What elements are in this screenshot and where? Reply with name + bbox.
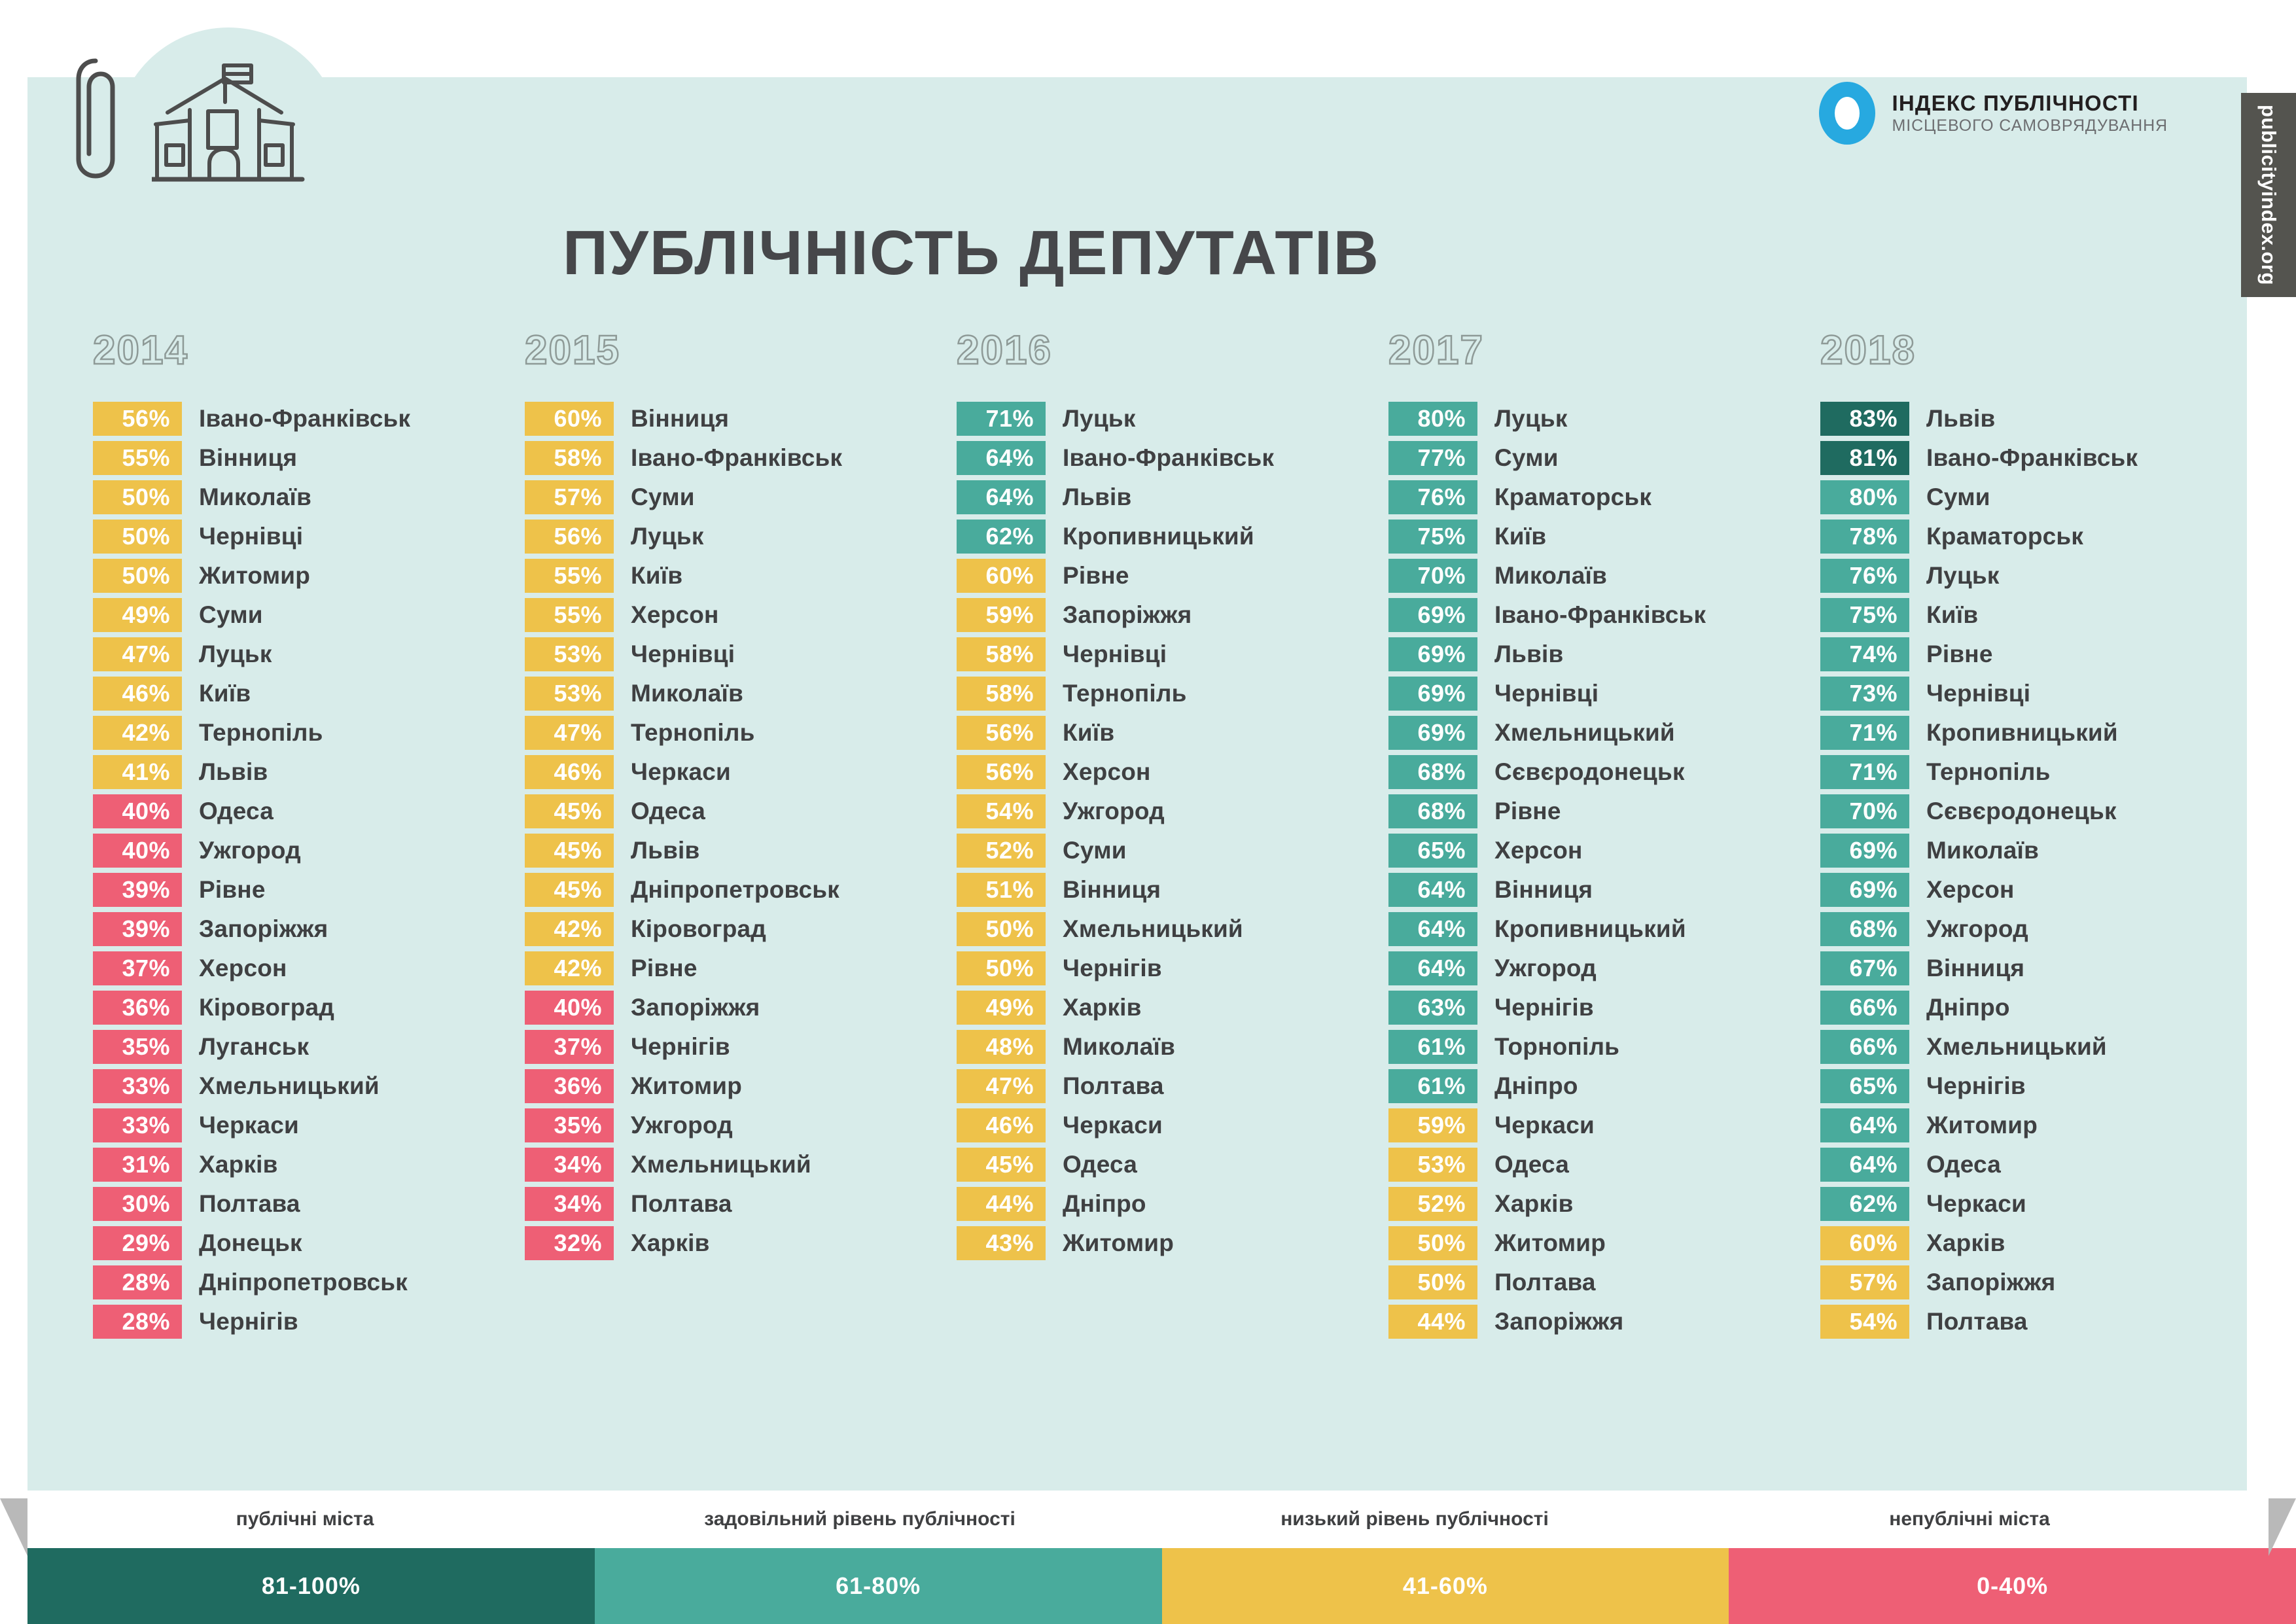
city-row: 53%Миколаїв: [525, 677, 957, 711]
city-name: Суми: [1909, 484, 1990, 511]
city-name: Запоріжжя: [1909, 1269, 2055, 1296]
city-name: Миколаїв: [614, 680, 743, 707]
city-row: 70%Миколаїв: [1388, 559, 1820, 593]
city-row: 45%Львів: [525, 834, 957, 868]
city-name: Чернігів: [182, 1308, 298, 1335]
city-name: Кропивницький: [1046, 523, 1254, 550]
city-row: 37%Чернігів: [525, 1030, 957, 1064]
city-row: 50%Миколаїв: [93, 480, 525, 514]
percent-badge: 51%: [957, 873, 1046, 907]
city-row: 78%Краматорськ: [1820, 520, 2252, 554]
city-name: Херсон: [182, 955, 287, 982]
city-name: Луцьк: [182, 641, 272, 668]
city-row: 62%Черкаси: [1820, 1187, 2252, 1221]
percent-badge: 46%: [525, 755, 614, 789]
city-name: Кропивницький: [1477, 915, 1686, 943]
percent-badge: 49%: [93, 598, 182, 632]
city-row: 31%Харків: [93, 1148, 525, 1182]
city-row: 44%Запоріжжя: [1388, 1305, 1820, 1339]
percent-badge: 67%: [1820, 951, 1909, 985]
legend-bars: 81-100%61-80%41-60%0-40%: [27, 1548, 2296, 1624]
city-name: Херсон: [614, 601, 719, 629]
city-name: Вінниця: [1046, 876, 1161, 904]
city-row: 46%Київ: [93, 677, 525, 711]
city-row: 42%Кіровоград: [525, 912, 957, 946]
city-name: Львів: [1909, 405, 1995, 432]
city-name: Черкаси: [1046, 1112, 1163, 1139]
city-name: Одеса: [1046, 1151, 1137, 1178]
city-name: Суми: [182, 601, 263, 629]
city-row: 36%Кіровоград: [93, 991, 525, 1025]
percent-badge: 50%: [93, 520, 182, 554]
city-row: 65%Чернігів: [1820, 1069, 2252, 1103]
city-name: Миколаїв: [1909, 837, 2039, 864]
percent-badge: 68%: [1820, 912, 1909, 946]
city-name: Херсон: [1909, 876, 2015, 904]
year-column-2014: 201456%Івано-Франківськ55%Вінниця50%Мико…: [93, 327, 525, 1339]
city-row: 81%Івано-Франківськ: [1820, 441, 2252, 475]
city-name: Черкаси: [614, 758, 731, 786]
year-column-2016: 201671%Луцьк64%Івано-Франківськ64%Львів6…: [957, 327, 1388, 1339]
city-row: 28%Чернігів: [93, 1305, 525, 1339]
legend-range-public: 81-100%: [27, 1548, 595, 1624]
city-rows: 71%Луцьк64%Івано-Франківськ64%Львів62%Кр…: [957, 402, 1388, 1260]
city-name: Луганськ: [182, 1033, 309, 1061]
city-name: Тернопіль: [1046, 680, 1187, 707]
percent-badge: 64%: [1388, 912, 1477, 946]
city-row: 50%Житомир: [93, 559, 525, 593]
city-name: Івано-Франківськ: [614, 444, 842, 472]
city-name: Рівне: [1909, 641, 1993, 668]
city-row: 36%Житомир: [525, 1069, 957, 1103]
city-name: Дніпропетровськ: [614, 876, 839, 904]
percent-badge: 81%: [1820, 441, 1909, 475]
percent-badge: 49%: [957, 991, 1046, 1025]
city-row: 69%Миколаїв: [1820, 834, 2252, 868]
logo-title: ІНДЕКС ПУБЛІЧНОСТІ: [1892, 91, 2168, 116]
percent-badge: 69%: [1388, 637, 1477, 671]
city-name: Полтава: [614, 1190, 732, 1218]
city-row: 61%Торнопіль: [1388, 1030, 1820, 1064]
city-rows: 60%Вінниця58%Івано-Франківськ57%Суми56%Л…: [525, 402, 957, 1260]
brand-logo: ІНДЕКС ПУБЛІЧНОСТІ МІСЦЕВОГО САМОВРЯДУВА…: [1819, 82, 2168, 145]
city-name: Херсон: [1477, 837, 1583, 864]
city-row: 69%Івано-Франківськ: [1388, 598, 1820, 632]
city-row: 40%Запоріжжя: [525, 991, 957, 1025]
percent-badge: 47%: [525, 716, 614, 750]
city-row: 46%Черкаси: [525, 755, 957, 789]
percent-badge: 33%: [93, 1069, 182, 1103]
school-building-icon: [152, 62, 308, 220]
city-row: 58%Івано-Франківськ: [525, 441, 957, 475]
city-name: Івано-Франківськ: [182, 405, 410, 432]
logo-ring-icon: [1819, 82, 1875, 145]
city-name: Миколаїв: [1046, 1033, 1175, 1061]
legend-captions: публічні містазадовільний рівень публічн…: [27, 1491, 2247, 1548]
city-name: Одеса: [614, 798, 705, 825]
city-row: 30%Полтава: [93, 1187, 525, 1221]
percent-badge: 42%: [525, 912, 614, 946]
percent-badge: 74%: [1820, 637, 1909, 671]
city-row: 65%Херсон: [1388, 834, 1820, 868]
percent-badge: 35%: [93, 1030, 182, 1064]
percent-badge: 45%: [957, 1148, 1046, 1182]
percent-badge: 63%: [1388, 991, 1477, 1025]
city-row: 56%Івано-Франківськ: [93, 402, 525, 436]
year-column-2015: 201560%Вінниця58%Івано-Франківськ57%Суми…: [525, 327, 957, 1339]
city-name: Харків: [1477, 1190, 1574, 1218]
city-name: Рівне: [1046, 562, 1129, 590]
city-row: 64%Кропивницький: [1388, 912, 1820, 946]
percent-badge: 76%: [1388, 480, 1477, 514]
city-row: 71%Луцьк: [957, 402, 1388, 436]
city-name: Тернопіль: [614, 719, 755, 747]
city-name: Рівне: [182, 876, 266, 904]
city-row: 50%Хмельницький: [957, 912, 1388, 946]
city-name: Дніпро: [1909, 994, 2010, 1021]
city-name: Київ: [182, 680, 251, 707]
percent-badge: 60%: [525, 402, 614, 436]
percent-badge: 78%: [1820, 520, 1909, 554]
city-row: 39%Рівне: [93, 873, 525, 907]
percent-badge: 64%: [1820, 1108, 1909, 1142]
city-name: Запоріжжя: [1477, 1308, 1623, 1335]
percent-badge: 68%: [1388, 794, 1477, 828]
city-row: 28%Дніпропетровськ: [93, 1265, 525, 1299]
percent-badge: 58%: [525, 441, 614, 475]
city-row: 64%Житомир: [1820, 1108, 2252, 1142]
city-name: Хмельницький: [1909, 1033, 2107, 1061]
city-name: Вінниця: [1477, 876, 1593, 904]
percent-badge: 50%: [957, 951, 1046, 985]
legend-caption-good: задовільний рівень публічності: [582, 1491, 1137, 1548]
city-row: 68%Сєвєродонецьк: [1388, 755, 1820, 789]
percent-badge: 55%: [525, 598, 614, 632]
percent-badge: 34%: [525, 1187, 614, 1221]
city-name: Хмельницький: [614, 1151, 811, 1178]
website-ribbon[interactable]: publicityindex.org: [2241, 93, 2296, 297]
city-name: Херсон: [1046, 758, 1151, 786]
city-row: 69%Львів: [1388, 637, 1820, 671]
city-row: 68%Рівне: [1388, 794, 1820, 828]
city-name: Хмельницький: [182, 1072, 380, 1100]
percent-badge: 71%: [1820, 716, 1909, 750]
percent-badge: 36%: [525, 1069, 614, 1103]
percent-badge: 45%: [525, 834, 614, 868]
city-name: Миколаїв: [182, 484, 311, 511]
city-row: 54%Ужгород: [957, 794, 1388, 828]
city-row: 60%Вінниця: [525, 402, 957, 436]
year-column-2018: 201883%Львів81%Івано-Франківськ80%Суми78…: [1820, 327, 2252, 1339]
city-name: Чернівці: [614, 641, 735, 668]
city-row: 45%Дніпропетровськ: [525, 873, 957, 907]
percent-badge: 33%: [93, 1108, 182, 1142]
city-row: 59%Черкаси: [1388, 1108, 1820, 1142]
percent-badge: 69%: [1820, 873, 1909, 907]
percent-badge: 53%: [1388, 1148, 1477, 1182]
city-name: Луцьк: [1909, 562, 2000, 590]
city-name: Кропивницький: [1909, 719, 2118, 747]
percent-badge: 62%: [957, 520, 1046, 554]
city-row: 41%Львів: [93, 755, 525, 789]
percent-badge: 44%: [1388, 1305, 1477, 1339]
website-url: publicityindex.org: [2241, 93, 2296, 297]
city-row: 77%Суми: [1388, 441, 1820, 475]
city-row: 64%Івано-Франківськ: [957, 441, 1388, 475]
percent-badge: 59%: [1388, 1108, 1477, 1142]
city-row: 76%Краматорськ: [1388, 480, 1820, 514]
percent-badge: 69%: [1388, 598, 1477, 632]
city-row: 32%Харків: [525, 1226, 957, 1260]
fold-right-decoration: [2269, 1498, 2296, 1556]
percent-badge: 56%: [525, 520, 614, 554]
percent-badge: 54%: [957, 794, 1046, 828]
percent-badge: 83%: [1820, 402, 1909, 436]
school-building-badge: [115, 27, 342, 254]
city-row: 42%Тернопіль: [93, 716, 525, 750]
city-name: Чернігів: [1909, 1072, 2026, 1100]
percent-badge: 52%: [957, 834, 1046, 868]
percent-badge: 65%: [1820, 1069, 1909, 1103]
city-row: 63%Чернігів: [1388, 991, 1820, 1025]
city-row: 40%Ужгород: [93, 834, 525, 868]
year-label: 2016: [957, 327, 1388, 373]
city-name: Луцьк: [1477, 405, 1568, 432]
city-name: Рівне: [614, 955, 698, 982]
percent-badge: 61%: [1388, 1069, 1477, 1103]
percent-badge: 54%: [1820, 1305, 1909, 1339]
city-row: 80%Суми: [1820, 480, 2252, 514]
city-name: Львів: [182, 758, 268, 786]
year-columns: 201456%Івано-Франківськ55%Вінниця50%Мико…: [27, 327, 2247, 1339]
percent-badge: 53%: [525, 637, 614, 671]
percent-badge: 45%: [525, 873, 614, 907]
percent-badge: 58%: [957, 677, 1046, 711]
legend-caption-nonpublic: непублічні міста: [1692, 1491, 2247, 1548]
percent-badge: 46%: [93, 677, 182, 711]
city-name: Запоріжжя: [182, 915, 328, 943]
percent-badge: 58%: [957, 637, 1046, 671]
city-name: Кіровоград: [182, 994, 334, 1021]
city-row: 66%Хмельницький: [1820, 1030, 2252, 1064]
year-column-2017: 201780%Луцьк77%Суми76%Краматорськ75%Київ…: [1388, 327, 1820, 1339]
year-label: 2015: [525, 327, 957, 373]
city-row: 37%Херсон: [93, 951, 525, 985]
percent-badge: 50%: [93, 480, 182, 514]
city-row: 42%Рівне: [525, 951, 957, 985]
percent-badge: 37%: [93, 951, 182, 985]
city-name: Дніпро: [1046, 1190, 1146, 1218]
legend-range-low: 41-60%: [1162, 1548, 1729, 1624]
city-row: 53%Чернівці: [525, 637, 957, 671]
city-row: 80%Луцьк: [1388, 402, 1820, 436]
percent-badge: 47%: [957, 1069, 1046, 1103]
city-name: Київ: [614, 562, 682, 590]
percent-badge: 29%: [93, 1226, 182, 1260]
city-row: 60%Рівне: [957, 559, 1388, 593]
city-name: Луцьк: [1046, 405, 1136, 432]
fold-left-decoration: [0, 1498, 27, 1556]
city-row: 45%Одеса: [957, 1148, 1388, 1182]
percent-badge: 57%: [525, 480, 614, 514]
city-row: 69%Хмельницький: [1388, 716, 1820, 750]
percent-badge: 50%: [957, 912, 1046, 946]
city-row: 56%Київ: [957, 716, 1388, 750]
city-row: 57%Суми: [525, 480, 957, 514]
percent-badge: 37%: [525, 1030, 614, 1064]
percent-badge: 75%: [1820, 598, 1909, 632]
city-name: Тернопіль: [182, 719, 323, 747]
city-row: 45%Одеса: [525, 794, 957, 828]
percent-badge: 53%: [525, 677, 614, 711]
city-name: Ужгород: [1046, 798, 1165, 825]
percent-badge: 55%: [525, 559, 614, 593]
year-label: 2017: [1388, 327, 1820, 373]
city-row: 67%Вінниця: [1820, 951, 2252, 985]
city-rows: 56%Івано-Франківськ55%Вінниця50%Миколаїв…: [93, 402, 525, 1339]
city-name: Полтава: [1909, 1308, 2028, 1335]
logo-text: ІНДЕКС ПУБЛІЧНОСТІ МІСЦЕВОГО САМОВРЯДУВА…: [1892, 91, 2168, 135]
city-name: Харків: [1909, 1229, 2005, 1257]
percent-badge: 59%: [957, 598, 1046, 632]
city-name: Житомир: [1046, 1229, 1174, 1257]
city-row: 76%Луцьк: [1820, 559, 2252, 593]
percent-badge: 36%: [93, 991, 182, 1025]
city-name: Київ: [1909, 601, 1978, 629]
city-name: Івано-Франківськ: [1046, 444, 1274, 472]
city-rows: 83%Львів81%Івано-Франківськ80%Суми78%Кра…: [1820, 402, 2252, 1339]
city-name: Харків: [182, 1151, 278, 1178]
city-row: 70%Сєвєродонецьк: [1820, 794, 2252, 828]
city-name: Івано-Франківськ: [1909, 444, 2138, 472]
percent-badge: 77%: [1388, 441, 1477, 475]
city-name: Чернівці: [1477, 680, 1598, 707]
city-row: 66%Дніпро: [1820, 991, 2252, 1025]
city-row: 53%Одеса: [1388, 1148, 1820, 1182]
percent-badge: 28%: [93, 1305, 182, 1339]
city-name: Суми: [1477, 444, 1559, 472]
city-row: 33%Хмельницький: [93, 1069, 525, 1103]
percent-badge: 80%: [1820, 480, 1909, 514]
percent-badge: 40%: [525, 991, 614, 1025]
city-row: 83%Львів: [1820, 402, 2252, 436]
percent-badge: 42%: [525, 951, 614, 985]
city-row: 35%Ужгород: [525, 1108, 957, 1142]
city-name: Чернівці: [1909, 680, 2030, 707]
percent-badge: 76%: [1820, 559, 1909, 593]
city-row: 46%Черкаси: [957, 1108, 1388, 1142]
city-row: 64%Львів: [957, 480, 1388, 514]
city-name: Львів: [1477, 641, 1563, 668]
city-row: 59%Запоріжжя: [957, 598, 1388, 632]
paperclip-icon: [71, 56, 120, 181]
percent-badge: 64%: [1388, 951, 1477, 985]
percent-badge: 69%: [1388, 677, 1477, 711]
percent-badge: 50%: [1388, 1226, 1477, 1260]
city-row: 35%Луганськ: [93, 1030, 525, 1064]
percent-badge: 70%: [1820, 794, 1909, 828]
city-name: Вінниця: [182, 444, 297, 472]
city-row: 57%Запоріжжя: [1820, 1265, 2252, 1299]
percent-badge: 71%: [1820, 755, 1909, 789]
city-row: 50%Полтава: [1388, 1265, 1820, 1299]
city-name: Кіровоград: [614, 915, 766, 943]
city-row: 54%Полтава: [1820, 1305, 2252, 1339]
city-name: Ужгород: [182, 837, 301, 864]
city-row: 43%Житомир: [957, 1226, 1388, 1260]
percent-badge: 41%: [93, 755, 182, 789]
city-name: Луцьк: [614, 523, 704, 550]
percent-badge: 56%: [957, 716, 1046, 750]
city-name: Рівне: [1477, 798, 1561, 825]
city-row: 50%Чернівці: [93, 520, 525, 554]
city-name: Запоріжжя: [1046, 601, 1192, 629]
legend-caption-public: публічні міста: [27, 1491, 582, 1548]
year-label: 2018: [1820, 327, 2252, 373]
city-name: Житомир: [614, 1072, 742, 1100]
percent-badge: 39%: [93, 912, 182, 946]
city-name: Донецьк: [182, 1229, 302, 1257]
percent-badge: 66%: [1820, 1030, 1909, 1064]
percent-badge: 66%: [1820, 991, 1909, 1025]
city-name: Чернігів: [1046, 955, 1162, 982]
percent-badge: 73%: [1820, 677, 1909, 711]
city-row: 75%Київ: [1820, 598, 2252, 632]
city-name: Одеса: [1477, 1151, 1569, 1178]
city-row: 71%Кропивницький: [1820, 716, 2252, 750]
percent-badge: 56%: [93, 402, 182, 436]
infographic-poster: ПУБЛІЧНІСТЬ ДЕПУТАТІВ ІНДЕКС ПУБЛІЧНОСТІ…: [0, 0, 2296, 1624]
city-name: Черкаси: [182, 1112, 299, 1139]
percent-badge: 55%: [93, 441, 182, 475]
city-row: 69%Херсон: [1820, 873, 2252, 907]
city-row: 64%Вінниця: [1388, 873, 1820, 907]
city-name: Чернівці: [1046, 641, 1167, 668]
city-row: 56%Херсон: [957, 755, 1388, 789]
percent-badge: 60%: [1820, 1226, 1909, 1260]
percent-badge: 62%: [1820, 1187, 1909, 1221]
city-name: Івано-Франківськ: [1477, 601, 1706, 629]
percent-badge: 69%: [1388, 716, 1477, 750]
percent-badge: 32%: [525, 1226, 614, 1260]
percent-badge: 64%: [957, 480, 1046, 514]
percent-badge: 64%: [957, 441, 1046, 475]
logo-subtitle: МІСЦЕВОГО САМОВРЯДУВАННЯ: [1892, 116, 2168, 136]
page-title: ПУБЛІЧНІСТЬ ДЕПУТАТІВ: [563, 217, 1380, 289]
percent-badge: 34%: [525, 1148, 614, 1182]
city-name: Краматорськ: [1477, 484, 1651, 511]
city-name: Київ: [1046, 719, 1114, 747]
city-name: Одеса: [182, 798, 274, 825]
city-name: Суми: [614, 484, 695, 511]
city-name: Житомир: [1909, 1112, 2038, 1139]
city-row: 40%Одеса: [93, 794, 525, 828]
percent-badge: 56%: [957, 755, 1046, 789]
city-row: 49%Суми: [93, 598, 525, 632]
city-name: Сєвєродонецьк: [1909, 798, 2117, 825]
percent-badge: 52%: [1388, 1187, 1477, 1221]
city-row: 68%Ужгород: [1820, 912, 2252, 946]
city-name: Чернігів: [614, 1033, 730, 1061]
city-row: 33%Черкаси: [93, 1108, 525, 1142]
city-row: 61%Дніпро: [1388, 1069, 1820, 1103]
city-row: 47%Тернопіль: [525, 716, 957, 750]
city-name: Харків: [614, 1229, 710, 1257]
percent-badge: 69%: [1820, 834, 1909, 868]
city-name: Вінниця: [614, 405, 729, 432]
city-row: 60%Харків: [1820, 1226, 2252, 1260]
percent-badge: 70%: [1388, 559, 1477, 593]
